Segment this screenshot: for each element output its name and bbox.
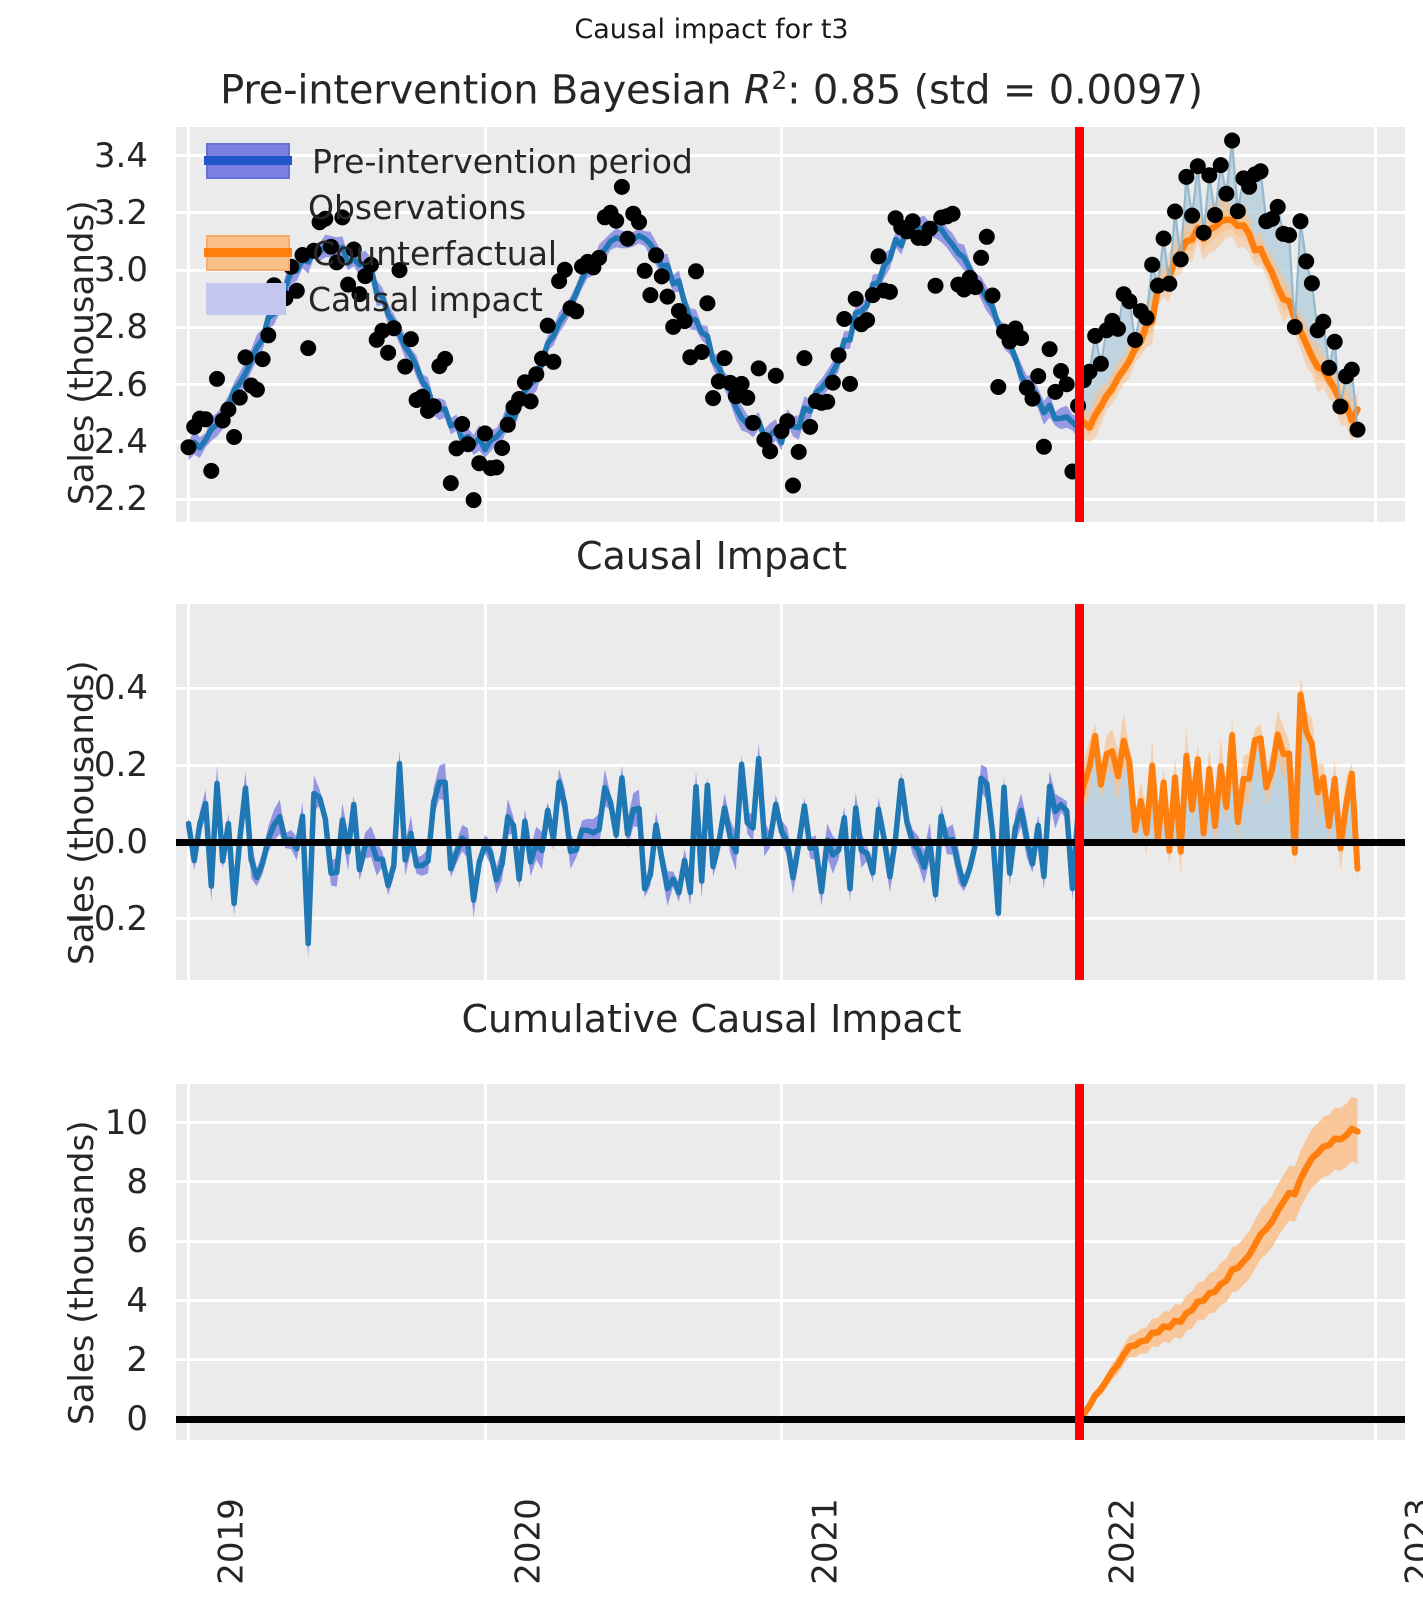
- ytick-label: 4: [28, 1281, 148, 1321]
- intervention-line: [1075, 604, 1084, 980]
- intervention-line: [1075, 1084, 1084, 1440]
- legend-swatch-lightblue-band: [206, 283, 286, 315]
- title-prefix: Pre-intervention Bayesian: [220, 67, 744, 113]
- figure-suptitle: Causal impact for t3: [0, 14, 1423, 45]
- legend-swatch-orange-line-band: [206, 235, 290, 271]
- xtick-label: 2019: [212, 1498, 252, 1585]
- legend-label: Causal impact: [308, 280, 543, 319]
- legend: Pre-intervention periodObservationsCount…: [206, 138, 693, 322]
- xtick-label: 2020: [508, 1498, 548, 1585]
- ytick-label: 3.0: [28, 250, 148, 290]
- ytick-label: 2.8: [28, 307, 148, 347]
- legend-label: Observations: [308, 188, 526, 227]
- ytick-label: 10: [28, 1103, 148, 1143]
- ytick-label: 6: [28, 1221, 148, 1261]
- ytick-label: 3.2: [28, 193, 148, 233]
- ytick-label: 2: [28, 1340, 148, 1380]
- ytick-label: 2.4: [28, 422, 148, 462]
- legend-item: Observations: [206, 184, 693, 230]
- legend-label: Counterfactual: [312, 234, 557, 273]
- ytick-label: −0.2: [28, 899, 148, 939]
- xtick-label: 2021: [805, 1498, 845, 1585]
- panel2-plot-area[interactable]: [176, 604, 1405, 980]
- intervention-line: [1075, 127, 1084, 522]
- xtick-label: 2023: [1399, 1498, 1423, 1585]
- zero-line: [176, 1416, 1405, 1423]
- title-r-symbol: R: [744, 67, 772, 113]
- figure-title: Pre-intervention Bayesian R2: 0.85 (std …: [0, 66, 1423, 113]
- legend-item: Counterfactual: [206, 230, 693, 276]
- title-superscript: 2: [771, 66, 787, 95]
- ytick-label: 0.2: [28, 745, 148, 785]
- panel2-title: Causal Impact: [0, 534, 1423, 578]
- legend-item: Pre-intervention period: [206, 138, 693, 184]
- ytick-label: 2.2: [28, 479, 148, 519]
- legend-swatch-blue-line-band: [206, 143, 290, 179]
- xtick-label: 2022: [1102, 1498, 1142, 1585]
- ytick-label: 0.0: [28, 822, 148, 862]
- ytick-label: 0: [28, 1399, 148, 1439]
- ytick-label: 2.6: [28, 365, 148, 405]
- ytick-label: 8: [28, 1162, 148, 1202]
- zero-line: [176, 839, 1405, 846]
- panel3-plot-area[interactable]: [176, 1084, 1405, 1440]
- legend-item: Causal impact: [206, 276, 693, 322]
- ytick-label: 3.4: [28, 136, 148, 176]
- causal-impact-figure: Causal impact for t3 Pre-intervention Ba…: [0, 0, 1423, 1623]
- panel3-title: Cumulative Causal Impact: [0, 997, 1423, 1041]
- ytick-label: 0.4: [28, 668, 148, 708]
- legend-label: Pre-intervention period: [312, 142, 693, 181]
- title-suffix: : 0.85 (std = 0.0097): [787, 67, 1203, 113]
